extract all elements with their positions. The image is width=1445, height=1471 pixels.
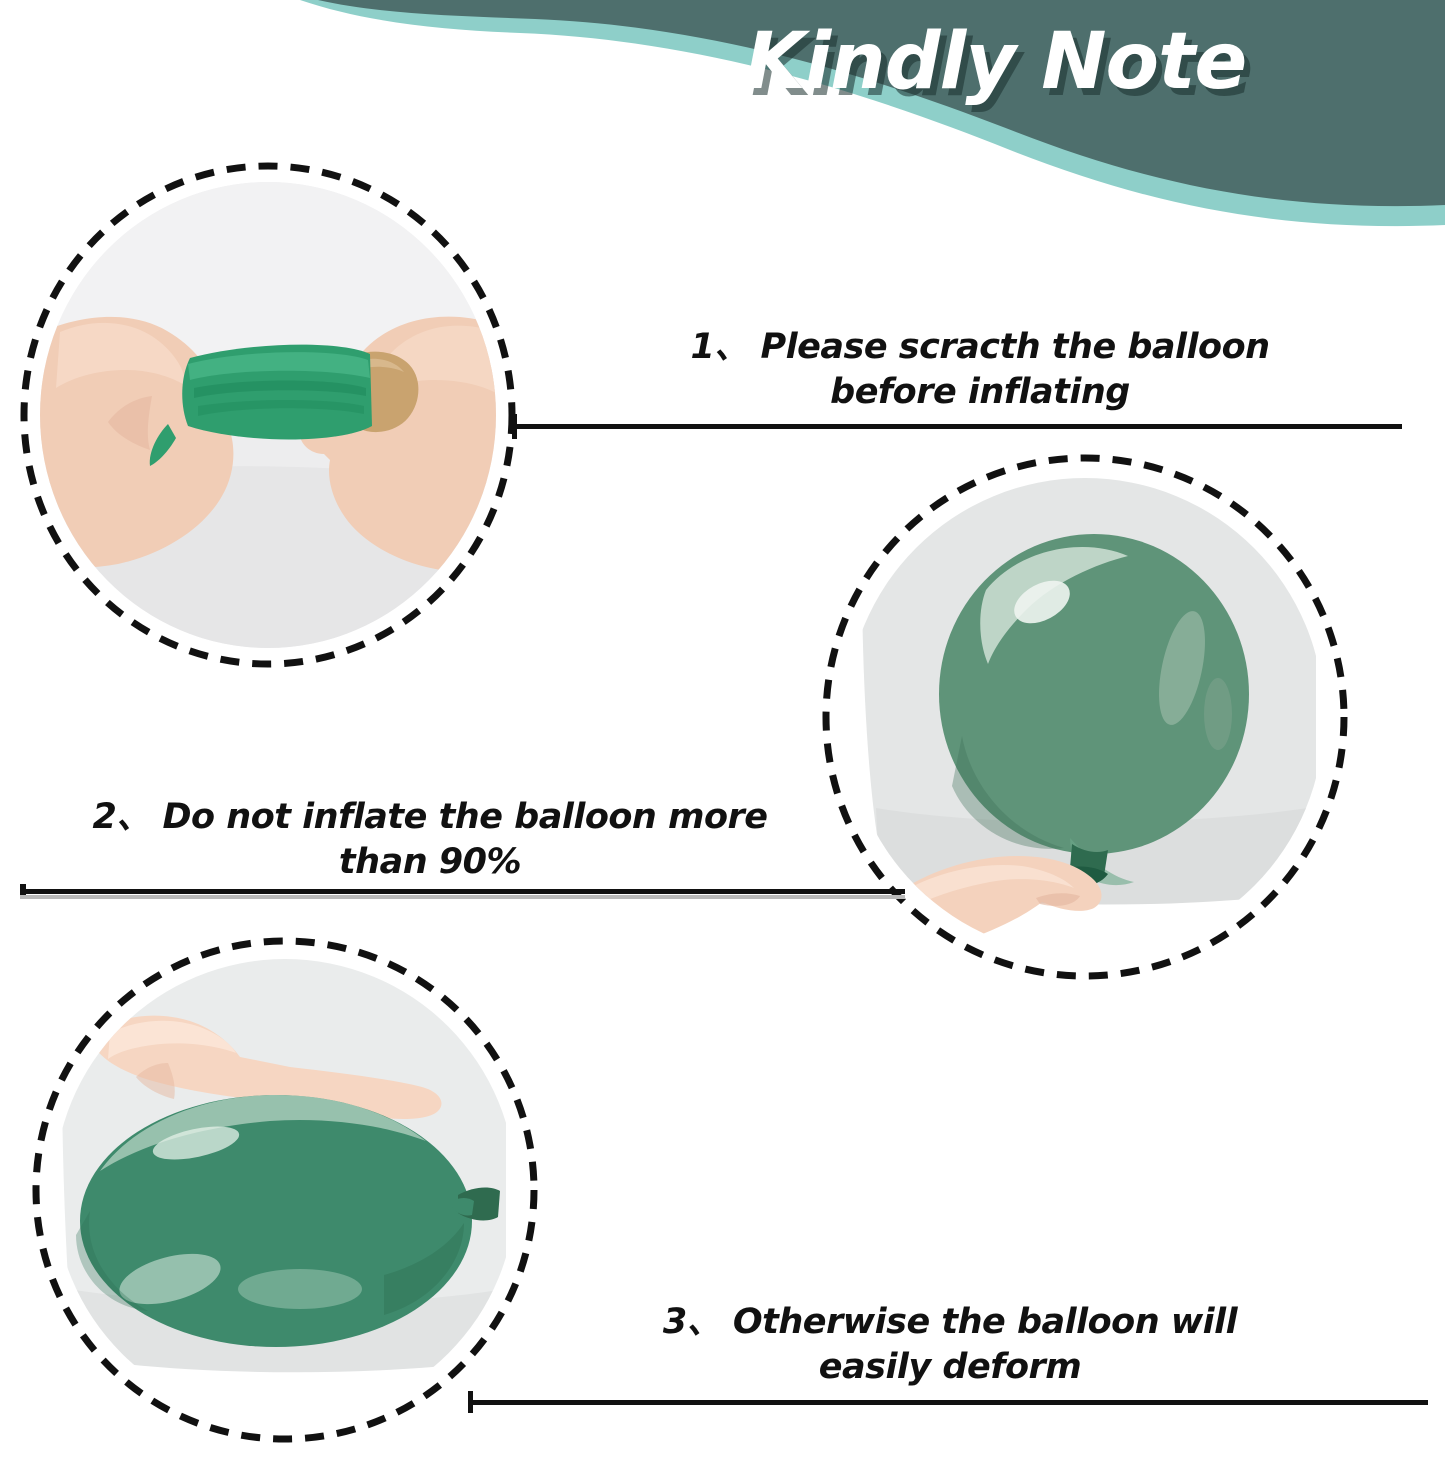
note-item-1: 1、 Please scracth the balloon before inf…	[660, 325, 1300, 415]
photo-3-image	[54, 959, 516, 1421]
photo-circle-deformed	[30, 935, 540, 1445]
note-item-3: 3、 Otherwise the balloon will easily def…	[620, 1300, 1280, 1390]
photo-circle-stretch	[18, 160, 518, 670]
photo-2-image	[846, 478, 1324, 956]
photo-1-image	[40, 182, 496, 648]
connector-rule-1	[512, 424, 1402, 429]
photo-circle-inflated	[820, 452, 1350, 982]
connector-rule-2	[20, 889, 905, 894]
note-3-text: 3、 Otherwise the balloon will easily def…	[620, 1300, 1280, 1390]
note-2-text: 2、 Do not inflate the balloon more than …	[60, 795, 800, 885]
connector-rule-3	[468, 1400, 1428, 1405]
page-title: Kindly Note	[745, 22, 1305, 104]
note-1-text: 1、 Please scracth the balloon before inf…	[660, 325, 1300, 415]
note-item-2: 2、 Do not inflate the balloon more than …	[60, 795, 800, 885]
